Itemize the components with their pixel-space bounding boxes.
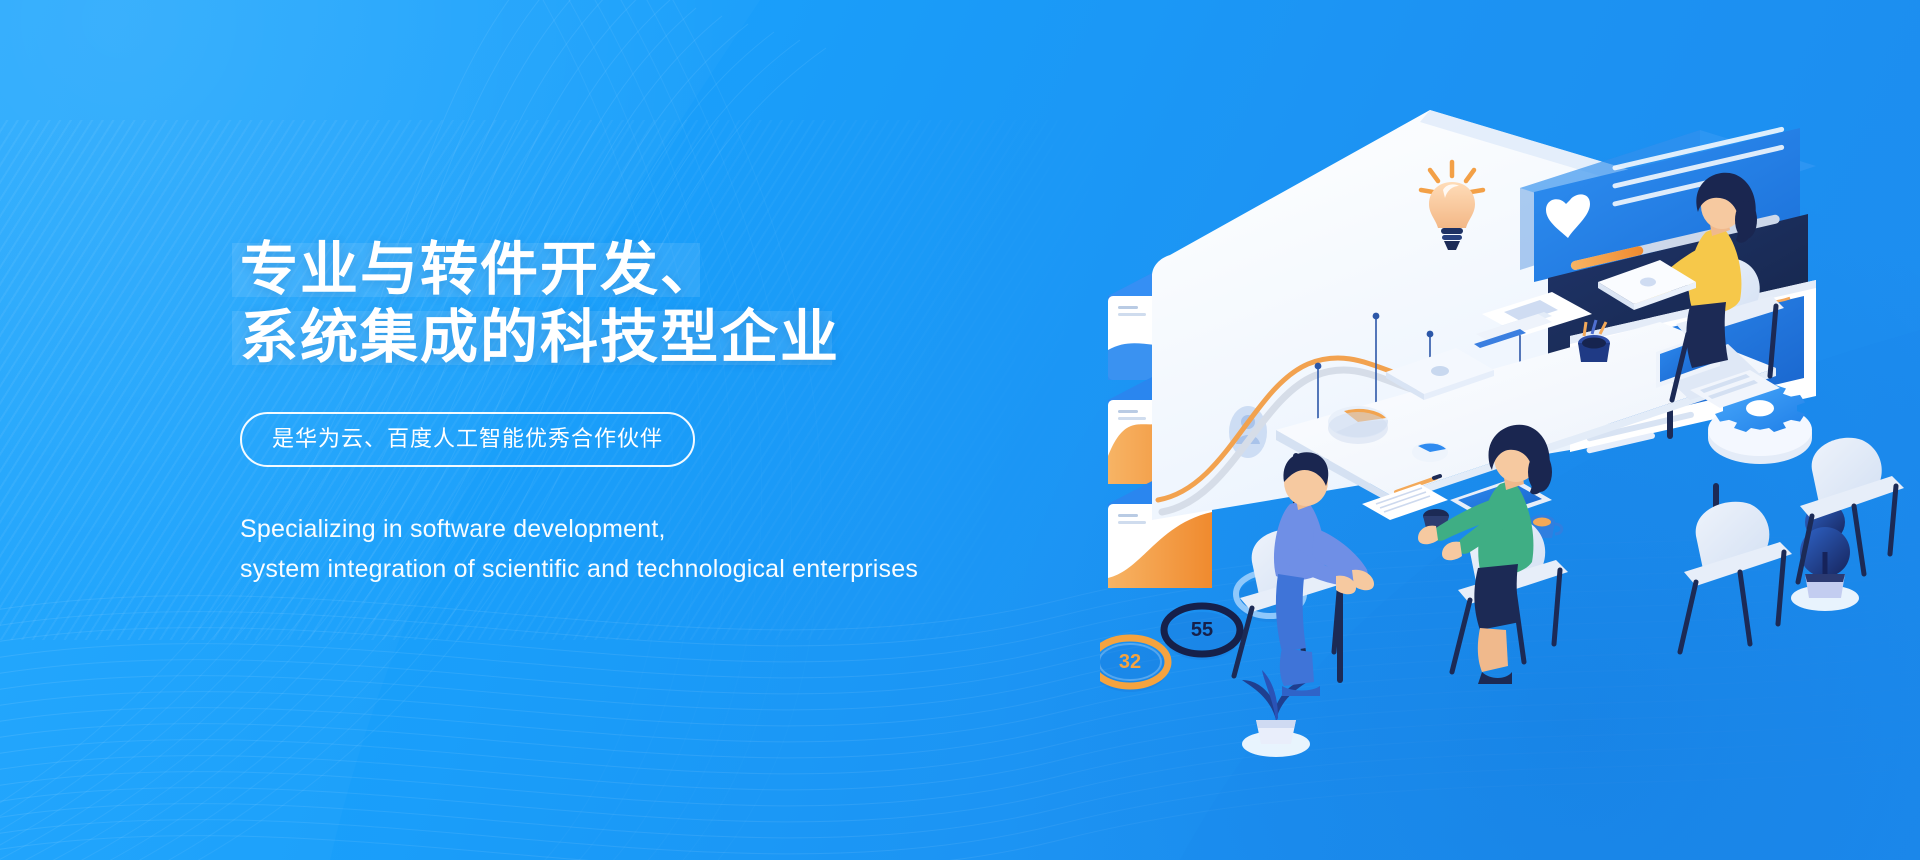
gauge-badge: 55 xyxy=(1164,606,1240,660)
chair-empty xyxy=(1680,502,1792,652)
subtitle-line-2: system integration of scientific and tec… xyxy=(240,549,1160,589)
headline-line-2: 系统集成的科技型企业 xyxy=(240,304,1160,372)
partner-badge-label: 是华为云、百度人工智能优秀合作伙伴 xyxy=(272,426,663,451)
hero-illustration: 65 123 97 81 xyxy=(1100,100,1920,780)
partner-badge[interactable]: 是华为云、百度人工智能优秀合作伙伴 xyxy=(240,412,695,467)
pie-chart-prop xyxy=(1412,442,1448,462)
headline-line-1: 专业与转件开发、 xyxy=(240,236,1160,304)
gauge-badge: 32 xyxy=(1100,638,1168,692)
headline-line-1-text: 专业与转件开发、 xyxy=(240,237,720,302)
gauge-value-1: 55 xyxy=(1191,619,1213,641)
hero-copy: 专业与转件开发、 系统集成的科技型企业 是华为云、百度人工智能优秀合作伙伴 Sp… xyxy=(240,236,1160,589)
hero-banner: 专业与转件开发、 系统集成的科技型企业 是华为云、百度人工智能优秀合作伙伴 Sp… xyxy=(0,0,1920,860)
person-avatar-icon xyxy=(1229,406,1267,458)
page-title: 专业与转件开发、 系统集成的科技型企业 xyxy=(240,236,1160,372)
hero-subtitle: Specializing in software development, sy… xyxy=(240,509,1160,589)
pie-chart-prop xyxy=(1328,406,1388,444)
pencil-tip xyxy=(1434,476,1440,478)
subtitle-line-1: Specializing in software development, xyxy=(240,509,1160,549)
headline-line-2-text: 系统集成的科技型企业 xyxy=(240,305,840,370)
gauge-value-0: 32 xyxy=(1119,651,1141,673)
